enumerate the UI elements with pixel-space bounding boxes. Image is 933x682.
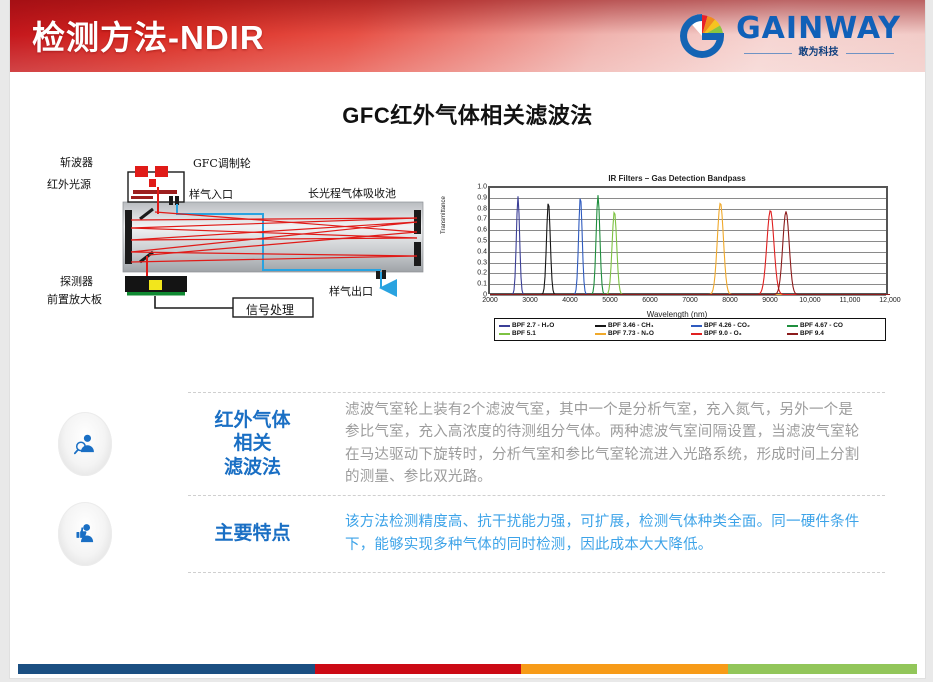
chart-ytick: 0.6 xyxy=(477,227,487,234)
diagram-label-chopper: 斩波器 xyxy=(60,154,93,170)
content-section: 红外气体相关滤波法滤波气室轮上装有2个滤波气室，其中一个是分析气室，充入氮气，另… xyxy=(10,392,925,573)
person-thumbs-up-icon xyxy=(58,502,112,566)
row-icon-cell xyxy=(10,412,160,476)
chart-ytick: 0.8 xyxy=(477,205,487,212)
legend-item: BPF 9.0 - O₃ xyxy=(691,330,785,337)
legend-item: BPF 5.1 xyxy=(499,330,593,337)
diagram-label-detector: 探测器 xyxy=(60,273,93,289)
chart-title: IR Filters – Gas Detection Bandpass xyxy=(442,174,912,183)
brand-tagline: 敢为科技 xyxy=(744,48,894,58)
gfc-ndir-optical-diagram: 斩波器 红外光源 GFC调制轮 样气入口 长光程气体吸收池 探测器 前置放大板 … xyxy=(65,152,425,342)
page-title: 检测方法-NDIR xyxy=(32,11,265,59)
chart-xtick: 11,000 xyxy=(840,297,861,304)
chart-legend: BPF 2.7 - H₂OBPF 3.46 - CH₄BPF 4.26 - CO… xyxy=(494,318,886,341)
legend-swatch xyxy=(787,333,798,335)
ir-filter-bandpass-chart: IR Filters – Gas Detection Bandpass Tran… xyxy=(442,172,912,347)
brand-name: GAINWAY xyxy=(736,14,901,44)
chart-ytick: 0.2 xyxy=(477,270,487,277)
diagram-label-gfc-wheel: GFC调制轮 xyxy=(193,155,251,171)
chart-xtick: 2000 xyxy=(482,297,498,304)
legend-item: BPF 4.26 - CO₂ xyxy=(691,322,785,329)
row-text: 该方法检测精度高、抗干扰能力强，可扩展，检测气体种类全面。同一硬件条件下，能够实… xyxy=(345,511,925,556)
legend-label: BPF 4.26 - CO₂ xyxy=(704,322,750,329)
segment-green xyxy=(728,664,917,674)
legend-label: BPF 9.4 xyxy=(800,330,824,337)
section-title: GFC红外气体相关滤波法 xyxy=(10,98,925,130)
chart-xtick: 7000 xyxy=(682,297,698,304)
chart-ytick: 0.7 xyxy=(477,216,487,223)
chart-ylabel: Transmittance xyxy=(441,196,447,234)
legend-swatch xyxy=(499,333,510,335)
chart-xtick: 6000 xyxy=(642,297,658,304)
legend-swatch xyxy=(691,325,702,327)
legend-item: BPF 3.46 - CH₄ xyxy=(595,322,689,329)
chart-xtick: 12,000 xyxy=(879,297,900,304)
legend-item: BPF 2.7 - H₂O xyxy=(499,322,593,329)
chart-xtick: 8000 xyxy=(722,297,738,304)
legend-swatch xyxy=(595,325,606,327)
segment-orange xyxy=(521,664,728,674)
gainway-g-fan-logo-icon xyxy=(677,11,727,61)
chart-gridline xyxy=(490,295,886,296)
diagram-label-preamp-board: 前置放大板 xyxy=(47,291,102,307)
legend-label: BPF 5.1 xyxy=(512,330,536,337)
chart-ytick: 0.3 xyxy=(477,259,487,266)
row-icon-cell xyxy=(10,502,160,566)
chart-plot-area: 00.10.20.30.40.50.60.70.80.91.0200030004… xyxy=(488,186,888,294)
row-label-line: 滤波法 xyxy=(160,456,345,479)
segment-red xyxy=(315,664,522,674)
diagram-label-sample-inlet: 样气入口 xyxy=(189,186,233,202)
person-search-icon xyxy=(58,412,112,476)
row-label: 主要特点 xyxy=(160,522,345,545)
diagram-label-ir-source: 红外光源 xyxy=(47,176,91,192)
row-text: 滤波气室轮上装有2个滤波气室，其中一个是分析气室，充入氮气，另外一个是参比气室，… xyxy=(345,399,925,489)
legend-item: BPF 9.4 xyxy=(787,330,881,337)
footer-color-bar xyxy=(18,664,917,674)
chart-ytick: 0.1 xyxy=(477,281,487,288)
row-label-line: 主要特点 xyxy=(160,522,345,545)
content-row: 主要特点该方法检测精度高、抗干扰能力强，可扩展，检测气体种类全面。同一硬件条件下… xyxy=(10,496,925,572)
legend-swatch xyxy=(787,325,798,327)
chart-series-bpf-4-26-co- xyxy=(490,199,890,295)
content-row: 红外气体相关滤波法滤波气室轮上装有2个滤波气室，其中一个是分析气室，充入氮气，另… xyxy=(10,393,925,495)
legend-label: BPF 2.7 - H₂O xyxy=(512,322,554,329)
diagram-label-signal-processing: 信号处理 xyxy=(246,301,294,318)
tagline-rule-left xyxy=(744,53,792,54)
row-label: 红外气体相关滤波法 xyxy=(160,409,345,479)
chart-xtick: 4000 xyxy=(562,297,578,304)
legend-label: BPF 3.46 - CH₄ xyxy=(608,322,654,329)
chart-xtick: 3000 xyxy=(522,297,538,304)
chart-series-layer xyxy=(490,187,890,295)
slide-header: 检测方法-NDIR GAINWAY xyxy=(10,0,925,72)
row-label-line: 相关 xyxy=(160,432,345,455)
chart-xtick: 9000 xyxy=(762,297,778,304)
chart-ytick: 1.0 xyxy=(477,184,487,191)
legend-swatch xyxy=(595,333,606,335)
brand-logo: GAINWAY 敢为科技 xyxy=(677,10,901,62)
chart-xtick: 10,000 xyxy=(799,297,820,304)
legend-item: BPF 7.73 - N₂O xyxy=(595,330,689,337)
chart-ytick: 0.4 xyxy=(477,248,487,255)
row-label-line: 红外气体 xyxy=(160,409,345,432)
chart-ytick: 0.9 xyxy=(477,194,487,201)
slide: 检测方法-NDIR GAINWAY xyxy=(10,0,925,678)
legend-label: BPF 9.0 - O₃ xyxy=(704,330,742,337)
diagram-label-long-path-cell: 长光程气体吸收池 xyxy=(308,185,396,201)
tagline-rule-right xyxy=(846,53,894,54)
content-divider xyxy=(188,572,885,573)
legend-label: BPF 7.73 - N₂O xyxy=(608,330,654,337)
chart-ytick: 0.5 xyxy=(477,238,487,245)
legend-label: BPF 4.67 - CO xyxy=(800,322,843,329)
brand-tagline-text: 敢为科技 xyxy=(799,48,839,58)
diagram-label-sample-outlet: 样气出口 xyxy=(329,283,373,299)
legend-item: BPF 4.67 - CO xyxy=(787,322,881,329)
segment-blue xyxy=(18,664,315,674)
legend-swatch xyxy=(691,333,702,335)
legend-swatch xyxy=(499,325,510,327)
chart-xtick: 5000 xyxy=(602,297,618,304)
chart-series-bpf-3-46-ch- xyxy=(490,204,890,295)
